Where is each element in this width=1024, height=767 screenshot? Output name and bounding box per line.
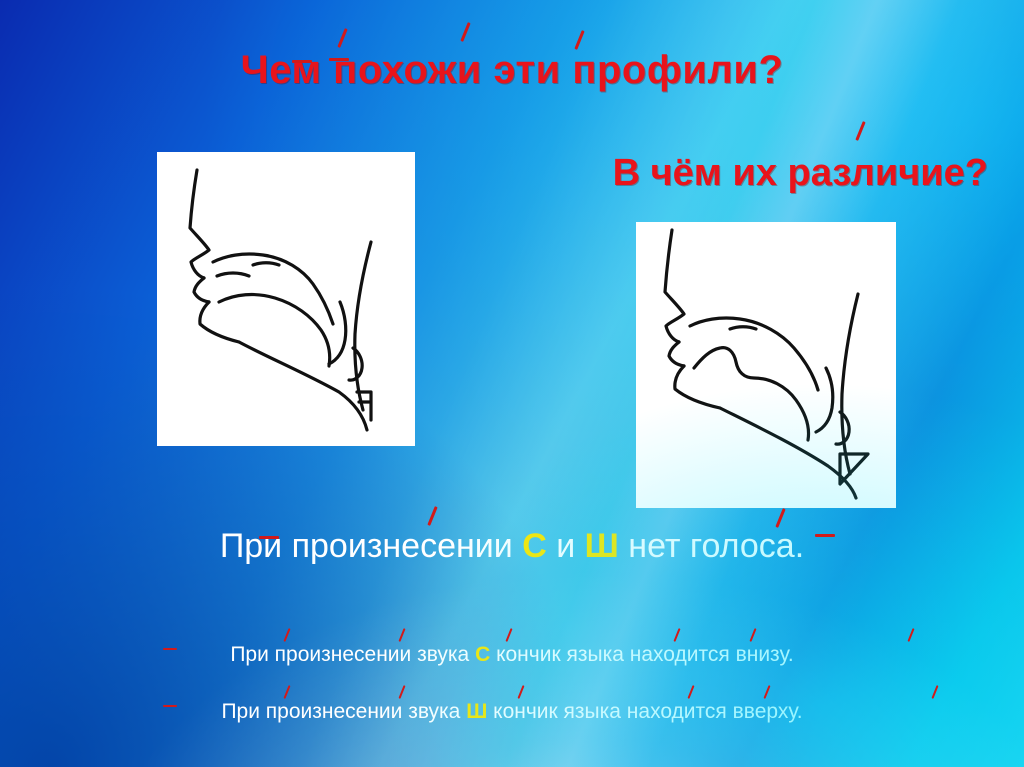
- page-title-line-1: Чем похожи эти профили?: [0, 48, 1024, 93]
- accent-mark-main-b: [427, 506, 437, 526]
- accent-mark-sub1-a: [163, 648, 177, 650]
- accent-mark-sub2-d: [517, 685, 524, 699]
- main-statement-middle: и: [547, 527, 585, 565]
- sub-statement-1-after: кончик языка находится внизу.: [490, 643, 793, 666]
- accent-mark-sub1-g: [907, 628, 914, 642]
- accent-mark-sub2-c: [398, 685, 405, 699]
- accent-mark-title1-a: [337, 28, 347, 48]
- sub-statement-1-letter: С: [475, 643, 490, 666]
- accent-mark-title1-d: [292, 60, 312, 63]
- articulation-profile-sh-image: [636, 222, 896, 508]
- accent-mark-sub1-e: [673, 628, 680, 642]
- main-statement-after: нет голоса.: [619, 527, 804, 565]
- accent-mark-title2-a: [855, 121, 865, 141]
- sub-statement-2-after: кончик языка находится вверху.: [487, 700, 802, 723]
- main-statement: При произнесении С и Ш нет голоса.: [0, 527, 1024, 566]
- sub-statement-2-before: При произнесении звука: [221, 700, 466, 723]
- articulation-profile-s-image: [157, 152, 415, 446]
- accent-mark-main-a: [259, 536, 279, 539]
- accent-mark-sub1-c: [398, 628, 405, 642]
- accent-mark-main-d: [815, 534, 835, 537]
- accent-mark-sub1-b: [283, 628, 290, 642]
- sub-statement-2: При произнесении звука Ш кончик языка на…: [0, 700, 1024, 724]
- accent-mark-sub2-a: [163, 705, 177, 707]
- page-title-line-2: В чём их различие?: [613, 152, 988, 195]
- accent-mark-title1-e: [329, 58, 349, 61]
- main-statement-letter-sh: Ш: [585, 527, 619, 565]
- accent-mark-sub2-b: [283, 685, 290, 699]
- accent-mark-sub2-g: [931, 685, 938, 699]
- slide-canvas: Чем похожи эти профили? В чём их различи…: [0, 0, 1024, 767]
- accent-mark-sub1-f: [749, 628, 756, 642]
- accent-mark-sub2-f: [763, 685, 770, 699]
- sub-statement-1-before: При произнесении звука: [230, 643, 475, 666]
- main-statement-before: При произнесении: [220, 527, 522, 565]
- main-statement-letter-s: С: [522, 527, 547, 565]
- accent-mark-sub2-e: [687, 685, 694, 699]
- accent-mark-title1-b: [460, 22, 470, 42]
- accent-mark-title1-c: [574, 30, 584, 50]
- accent-mark-main-c: [775, 508, 785, 528]
- sub-statement-1: При произнесении звука С кончик языка на…: [0, 643, 1024, 667]
- sub-statement-2-letter: Ш: [466, 700, 487, 723]
- accent-mark-sub1-d: [505, 628, 512, 642]
